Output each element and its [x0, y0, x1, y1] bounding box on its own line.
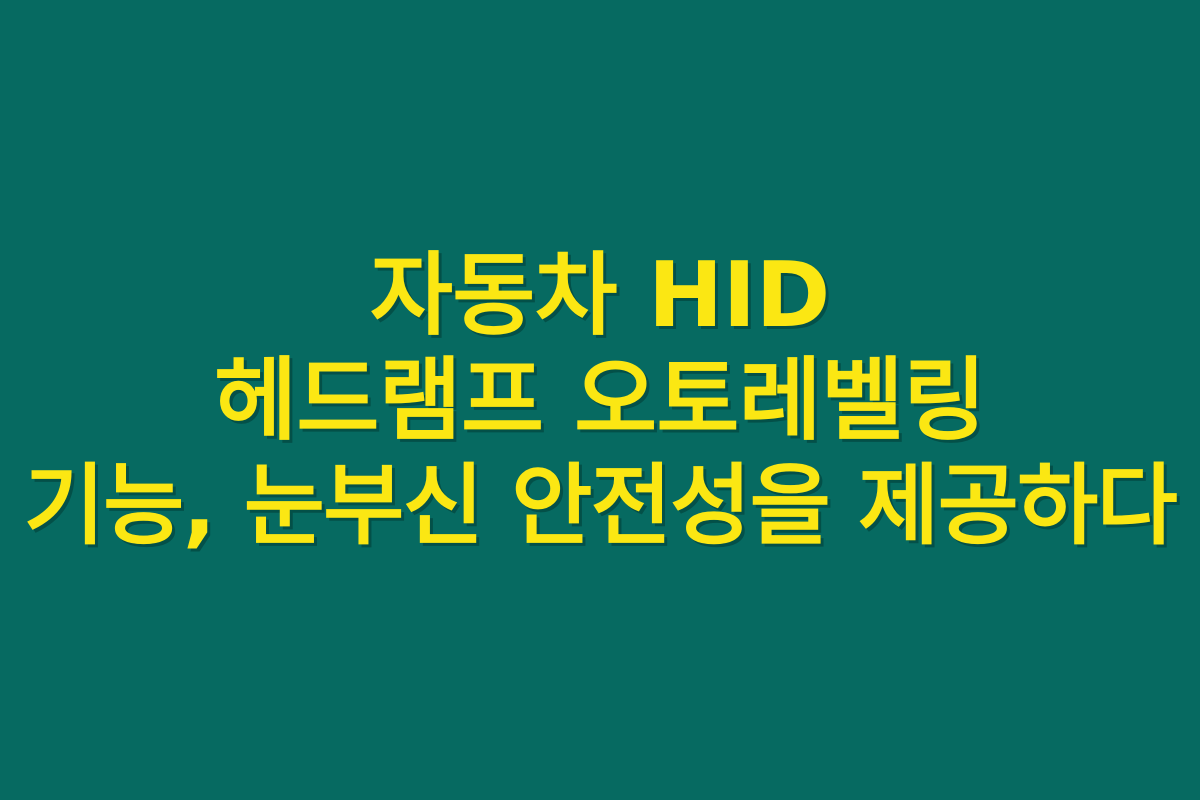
headline-line-2: 헤드램프 오토레벨링 [6, 348, 1194, 453]
headline-text-block: 자동차 HID 헤드램프 오토레벨링 기능, 눈부신 안전성을 제공하다 [0, 243, 1200, 558]
headline-line-1: 자동차 HID [6, 243, 1194, 348]
thumbnail-canvas: 자동차 HID 헤드램프 오토레벨링 기능, 눈부신 안전성을 제공하다 [0, 0, 1200, 800]
headline-line-3: 기능, 눈부신 안전성을 제공하다 [6, 453, 1194, 558]
